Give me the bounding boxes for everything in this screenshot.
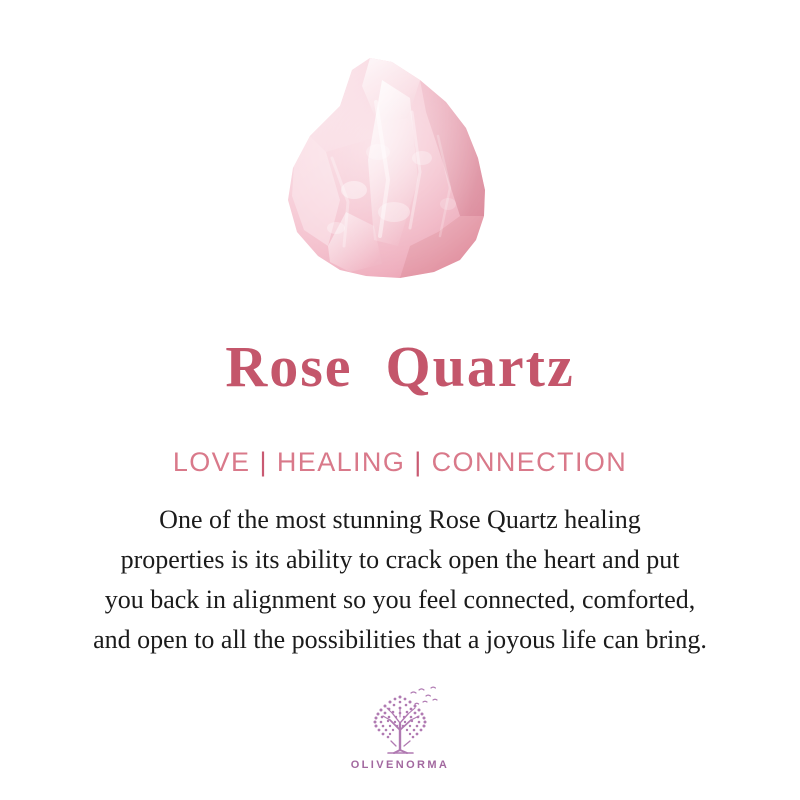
description-line: you back in alignment so you feel connec… bbox=[30, 580, 770, 620]
keyword-separator: | bbox=[405, 447, 431, 477]
description-text: One of the most stunning Rose Quartz hea… bbox=[30, 500, 770, 660]
brand-name: OLIVENORMA bbox=[0, 759, 800, 771]
page-title: Rose Quartz bbox=[0, 336, 800, 398]
keyword-love: LOVE bbox=[173, 447, 251, 477]
keyword-healing: HEALING bbox=[277, 447, 405, 477]
crystal-figure bbox=[0, 40, 800, 300]
keyword-separator: | bbox=[250, 447, 276, 477]
rose-quartz-info-card: Rose Quartz LOVE|HEALING|CONNECTION One … bbox=[0, 0, 800, 800]
keyword-connection: CONNECTION bbox=[432, 447, 628, 477]
description-line: One of the most stunning Rose Quartz hea… bbox=[30, 500, 770, 540]
keyword-list: LOVE|HEALING|CONNECTION bbox=[0, 446, 800, 478]
brand-logo: OLIVENORMA bbox=[0, 684, 800, 771]
birds-icon bbox=[411, 687, 437, 704]
crystal-body bbox=[270, 40, 530, 290]
tree-of-life-with-birds-icon bbox=[357, 684, 443, 758]
description-line: properties is its ability to crack open … bbox=[30, 540, 770, 580]
description-line: and open to all the possibilities that a… bbox=[30, 620, 770, 660]
rose-quartz-crystal-image bbox=[270, 40, 530, 290]
